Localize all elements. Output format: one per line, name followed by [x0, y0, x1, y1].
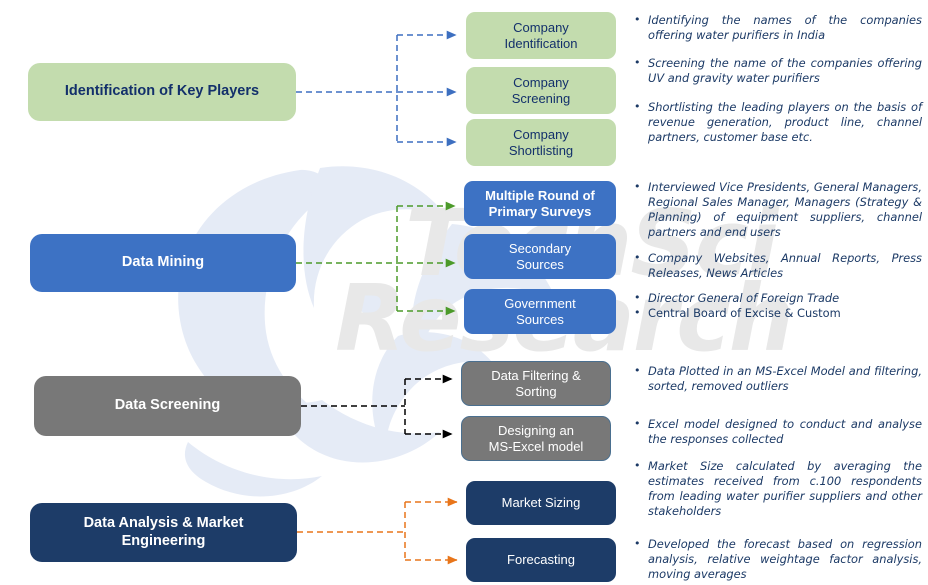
bullet-text: Central Board of Excise & Custom	[648, 306, 922, 321]
bullet-text: Interviewed Vice Presidents, General Man…	[648, 180, 922, 241]
bullet-text: Shortlisting the leading players on the …	[648, 100, 922, 145]
bullet-text: Data Plotted in an MS-Excel Model and fi…	[648, 364, 922, 394]
bullet-marker: •	[634, 100, 648, 145]
sub-box-company-screening[interactable]: Company Screening	[466, 67, 616, 114]
bullet-item: • Developed the forecast based on regres…	[634, 537, 922, 582]
bullet-marker: •	[634, 13, 648, 43]
bullet-group-data-mining: • Interviewed Vice Presidents, General M…	[634, 180, 922, 321]
bullet-text: Excel model designed to conduct and anal…	[648, 417, 922, 447]
main-box-label: Data Screening	[115, 397, 221, 414]
bullet-item: • Company Websites, Annual Reports, Pres…	[634, 251, 922, 281]
connector-identification-of-key-players	[296, 35, 456, 142]
bullet-item: • Market Size calculated by averaging th…	[634, 459, 922, 520]
sub-box-multiple-round-of-primary-surveys[interactable]: Multiple Round of Primary Surveys	[464, 181, 616, 226]
methodology-diagram: TechSci Research	[0, 0, 928, 585]
bullet-marker: •	[634, 251, 648, 281]
connector-data-analysis-and-market-engineering	[297, 502, 457, 560]
bullet-item: • Data Plotted in an MS-Excel Model and …	[634, 364, 922, 394]
main-box-data-screening[interactable]: Data Screening	[34, 376, 301, 436]
sub-box-label: Multiple Round of Primary Surveys	[485, 188, 595, 219]
sub-box-market-sizing[interactable]: Market Sizing	[466, 481, 616, 525]
sub-box-label: Secondary Sources	[509, 241, 571, 272]
bullet-marker: •	[634, 56, 648, 86]
bullet-marker: •	[634, 180, 648, 241]
bullet-marker: •	[634, 459, 648, 520]
bullet-item: • Identifying the names of the companies…	[634, 13, 922, 43]
main-box-identification-of-key-players[interactable]: Identification of Key Players	[28, 63, 296, 121]
sub-box-label: Company Identification	[505, 20, 578, 51]
main-box-label: Data Analysis & Market Engineering	[84, 515, 244, 549]
sub-box-government-sources[interactable]: Government Sources	[464, 289, 616, 334]
sub-box-label: Data Filtering & Sorting	[491, 368, 581, 399]
bullet-item: • Shortlisting the leading players on th…	[634, 100, 922, 145]
sub-box-company-identification[interactable]: Company Identification	[466, 12, 616, 59]
bullet-item: • Director General of Foreign Trade	[634, 291, 922, 306]
main-box-data-analysis-and-market-engineering[interactable]: Data Analysis & Market Engineering	[30, 503, 297, 562]
connector-data-mining	[296, 206, 455, 311]
bullet-group-data-analysis-and-market-engineering: • Market Size calculated by averaging th…	[634, 459, 922, 582]
sub-box-label: Government Sources	[504, 296, 576, 327]
bullet-marker: •	[634, 364, 648, 394]
sub-box-forecasting[interactable]: Forecasting	[466, 538, 616, 582]
sub-box-label: Forecasting	[507, 552, 575, 567]
bullet-text: Developed the forecast based on regressi…	[648, 537, 922, 582]
sub-box-secondary-sources[interactable]: Secondary Sources	[464, 234, 616, 279]
bullet-group-data-screening: • Data Plotted in an MS-Excel Model and …	[634, 364, 922, 448]
sub-box-designing-an-ms-excel-model[interactable]: Designing an MS-Excel model	[461, 416, 611, 461]
main-box-label: Identification of Key Players	[65, 83, 259, 100]
sub-box-label: Designing an MS-Excel model	[489, 423, 584, 454]
sub-box-data-filtering-and-sorting[interactable]: Data Filtering & Sorting	[461, 361, 611, 406]
bullet-marker: •	[634, 537, 648, 582]
sub-box-label: Company Shortlisting	[509, 127, 573, 158]
sub-box-label: Company Screening	[512, 75, 571, 106]
bullet-text: Market Size calculated by averaging the …	[648, 459, 922, 520]
bullet-item: • Interviewed Vice Presidents, General M…	[634, 180, 922, 241]
bullet-text: Company Websites, Annual Reports, Press …	[648, 251, 922, 281]
bullet-group-identification-of-key-players: • Identifying the names of the companies…	[634, 13, 922, 145]
bullet-text: Identifying the names of the companies o…	[648, 13, 922, 43]
sub-box-label: Market Sizing	[502, 495, 581, 510]
bullet-item: • Central Board of Excise & Custom	[634, 306, 922, 321]
bullet-item: • Excel model designed to conduct and an…	[634, 417, 922, 447]
bullet-marker: •	[634, 417, 648, 447]
bullet-marker: •	[634, 306, 648, 321]
bullet-text: Director General of Foreign Trade	[648, 291, 922, 306]
connector-data-screening	[301, 379, 452, 434]
bullet-item: • Screening the name of the companies of…	[634, 56, 922, 86]
main-box-label: Data Mining	[122, 254, 204, 271]
sub-box-company-shortlisting[interactable]: Company Shortlisting	[466, 119, 616, 166]
main-box-data-mining[interactable]: Data Mining	[30, 234, 296, 292]
bullet-marker: •	[634, 291, 648, 306]
bullet-text: Screening the name of the companies offe…	[648, 56, 922, 86]
